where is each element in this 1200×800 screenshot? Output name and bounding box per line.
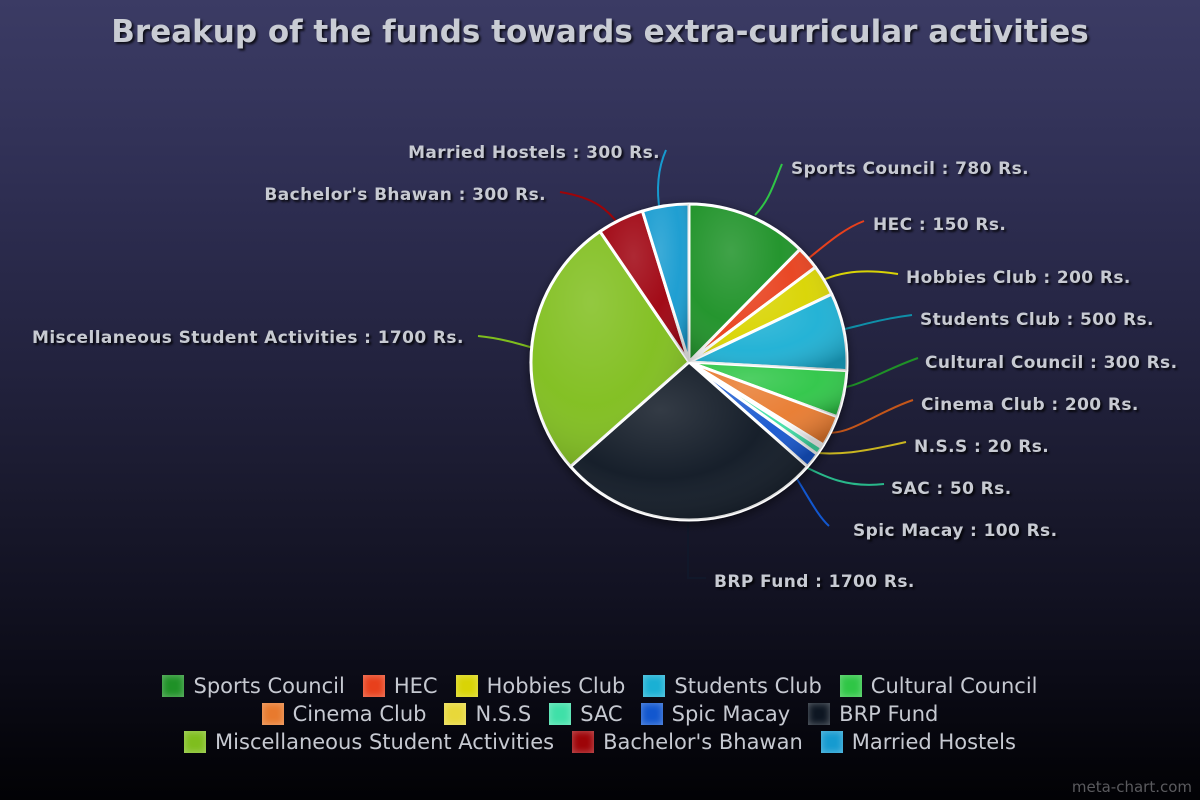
callout-label-brp-fund: BRP Fund : 1700 Rs. [714,572,915,592]
legend-swatch-icon [444,703,466,725]
legend-swatch-icon [643,675,665,697]
legend-label: SAC [580,703,622,725]
legend-label: Cultural Council [871,675,1038,697]
leader-line-bachelors-bhawan [560,192,620,226]
legend-swatch-icon [184,731,206,753]
legend-swatch-icon [641,703,663,725]
legend-item[interactable]: HEC [363,675,438,697]
legend-item[interactable]: BRP Fund [808,703,938,725]
legend-swatch-icon [363,675,385,697]
callout-label-married-hostels: Married Hostels : 300 Rs. [408,143,660,163]
callout-label-cinema-club: Cinema Club : 200 Rs. [921,395,1139,415]
callout-label-hec: HEC : 150 Rs. [873,215,1006,235]
legend-swatch-icon [162,675,184,697]
chart-legend: Sports CouncilHECHobbies ClubStudents Cl… [0,672,1200,756]
callout-label-sac: SAC : 50 Rs. [891,479,1012,499]
legend-item[interactable]: N.S.S [444,703,531,725]
callout-label-spic-macay: Spic Macay : 100 Rs. [853,521,1057,541]
legend-label: Hobbies Club [487,675,626,697]
legend-row: Sports CouncilHECHobbies ClubStudents Cl… [0,672,1200,700]
pie-chart-figure: Breakup of the funds towards extra-curri… [0,0,1200,800]
legend-label: Students Club [674,675,821,697]
legend-item[interactable]: Miscellaneous Student Activities [184,731,554,753]
legend-swatch-icon [808,703,830,725]
callout-label-sports-council: Sports Council : 780 Rs. [791,159,1029,179]
legend-label: BRP Fund [839,703,938,725]
legend-item[interactable]: Spic Macay [641,703,791,725]
legend-item[interactable]: Sports Council [162,675,344,697]
legend-label: N.S.S [475,703,531,725]
legend-label: Bachelor's Bhawan [603,731,803,753]
leader-line-sports-council [755,164,782,215]
legend-label: Sports Council [193,675,344,697]
leader-line-brp-fund [688,520,706,578]
legend-label: Cinema Club [293,703,427,725]
legend-label: Miscellaneous Student Activities [215,731,554,753]
legend-item[interactable]: Cultural Council [840,675,1038,697]
legend-swatch-icon [262,703,284,725]
callout-label-miscellaneous: Miscellaneous Student Activities : 1700 … [32,328,464,348]
legend-item[interactable]: SAC [549,703,622,725]
callout-label-cultural-council: Cultural Council : 300 Rs. [925,353,1177,373]
legend-item[interactable]: Married Hostels [821,731,1016,753]
legend-swatch-icon [821,731,843,753]
legend-row: Miscellaneous Student ActivitiesBachelor… [0,728,1200,756]
legend-swatch-icon [572,731,594,753]
legend-label: Married Hostels [852,731,1016,753]
callout-label-bachelors-bhawan: Bachelor's Bhawan : 300 Rs. [264,185,546,205]
legend-item[interactable]: Cinema Club [262,703,427,725]
callout-label-nss: N.S.S : 20 Rs. [914,437,1049,457]
legend-swatch-icon [549,703,571,725]
legend-item[interactable]: Students Club [643,675,821,697]
pie-slice-layer [531,204,847,520]
legend-label: HEC [394,675,438,697]
legend-swatch-icon [456,675,478,697]
legend-item[interactable]: Hobbies Club [456,675,626,697]
watermark: meta-chart.com [1072,778,1192,796]
legend-item[interactable]: Bachelor's Bhawan [572,731,803,753]
legend-row: Cinema ClubN.S.SSACSpic MacayBRP Fund [0,700,1200,728]
legend-swatch-icon [840,675,862,697]
callout-label-hobbies-club: Hobbies Club : 200 Rs. [906,268,1131,288]
legend-label: Spic Macay [672,703,791,725]
callout-label-students-club: Students Club : 500 Rs. [920,310,1154,330]
